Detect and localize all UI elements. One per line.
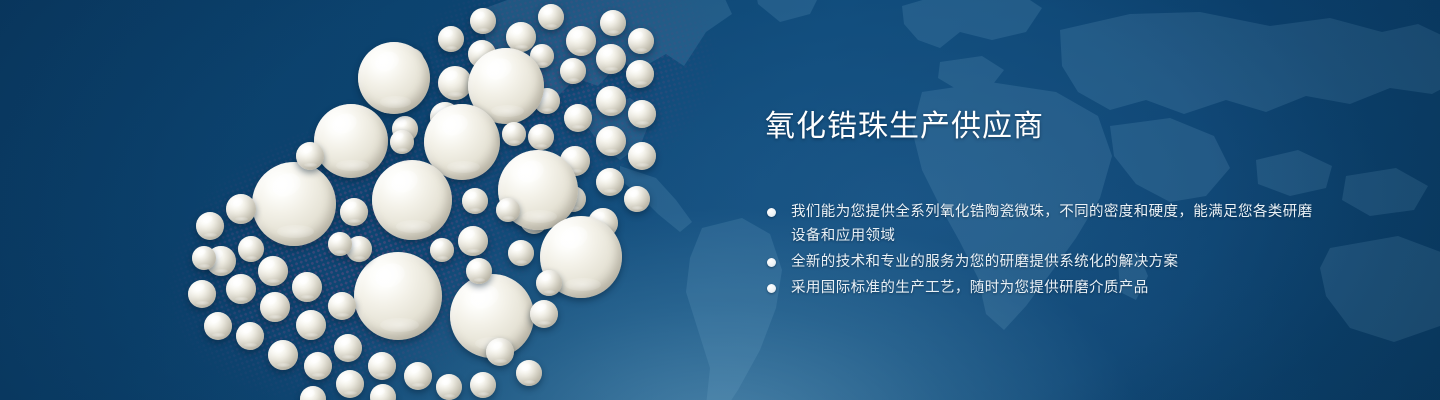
list-item-text: 我们能为您提供全系列氧化锆陶瓷微珠，不同的密度和硬度，能满足您各类研磨设备和应用…	[791, 204, 1313, 244]
list-item: 采用国际标准的生产工艺，随时为您提供研磨介质产品	[765, 276, 1325, 300]
list-item-text: 采用国际标准的生产工艺，随时为您提供研磨介质产品	[791, 280, 1149, 296]
bullet-dot-icon	[767, 284, 776, 293]
feature-list: 我们能为您提供全系列氧化锆陶瓷微珠，不同的密度和硬度，能满足您各类研磨设备和应用…	[765, 200, 1325, 300]
banner-copy: 氧化锆珠生产供应商 我们能为您提供全系列氧化锆陶瓷微珠，不同的密度和硬度，能满足…	[765, 108, 1325, 302]
page-title: 氧化锆珠生产供应商	[765, 108, 1325, 146]
bullet-dot-icon	[767, 258, 776, 267]
list-item-text: 全新的技术和专业的服务为您的研磨提供系统化的解决方案	[791, 254, 1178, 270]
hero-banner: 氧化锆珠生产供应商 我们能为您提供全系列氧化锆陶瓷微珠，不同的密度和硬度，能满足…	[0, 0, 1440, 400]
list-item: 我们能为您提供全系列氧化锆陶瓷微珠，不同的密度和硬度，能满足您各类研磨设备和应用…	[765, 200, 1325, 248]
list-item: 全新的技术和专业的服务为您的研磨提供系统化的解决方案	[765, 250, 1325, 274]
bullet-dot-icon	[767, 208, 776, 217]
